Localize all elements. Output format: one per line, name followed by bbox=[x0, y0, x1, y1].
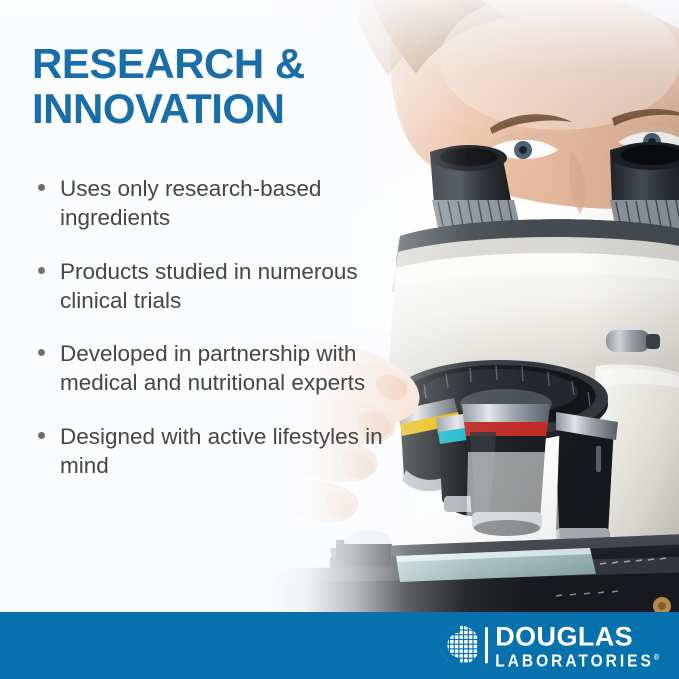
list-item-text: Products studied in numerous clinical tr… bbox=[60, 259, 358, 313]
page-title: RESEARCH & INNOVATION bbox=[32, 42, 392, 131]
logo-wordmark: DOUGLAS LABORATORIES® bbox=[495, 623, 659, 669]
list-item-text: Uses only research-based ingredients bbox=[60, 176, 321, 230]
headline-line-2: INNOVATION bbox=[32, 87, 392, 132]
marketing-poster: RESEARCH & INNOVATION Uses only research… bbox=[0, 0, 679, 679]
list-item: Developed in partnership with medical an… bbox=[30, 339, 390, 398]
feature-bullet-list: Uses only research-based ingredients Pro… bbox=[30, 174, 390, 504]
bullet-dot-icon bbox=[38, 432, 45, 439]
dot-matrix-circle-logo-icon bbox=[439, 625, 481, 667]
logo-divider bbox=[485, 628, 488, 664]
headline-line-1: RESEARCH & bbox=[32, 42, 392, 87]
brand-footer-bar: DOUGLAS LABORATORIES® bbox=[0, 612, 679, 679]
registered-trademark-icon: ® bbox=[654, 654, 659, 662]
douglas-laboratories-logo: DOUGLAS LABORATORIES® bbox=[439, 623, 659, 669]
list-item-text: Designed with active lifestyles in mind bbox=[60, 424, 383, 478]
brand-name-primary: DOUGLAS bbox=[495, 623, 659, 650]
list-item: Uses only research-based ingredients bbox=[30, 174, 390, 233]
bullet-dot-icon bbox=[38, 267, 45, 274]
list-item: Products studied in numerous clinical tr… bbox=[30, 257, 390, 316]
list-item: Designed with active lifestyles in mind bbox=[30, 422, 390, 481]
brand-name-secondary: LABORATORIES® bbox=[495, 653, 659, 670]
bullet-dot-icon bbox=[38, 349, 45, 356]
bullet-dot-icon bbox=[38, 184, 45, 191]
list-item-text: Developed in partnership with medical an… bbox=[60, 341, 365, 395]
